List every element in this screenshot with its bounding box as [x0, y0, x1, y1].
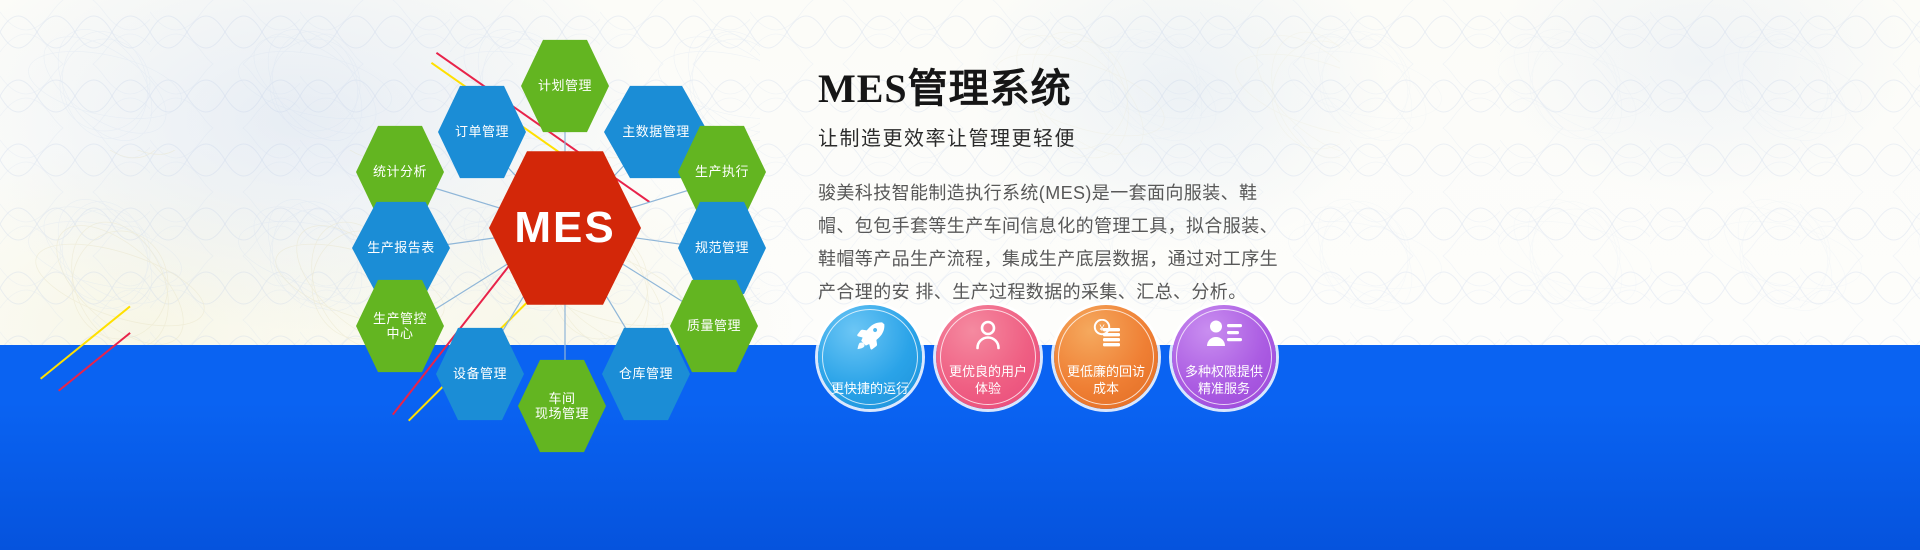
coins-icon: ¥ [1054, 319, 1158, 351]
feature-badges: 更快捷的运行 更优良的用户 体验 ¥ [818, 305, 1276, 409]
badge-label: 更优良的用户 体验 [949, 363, 1027, 397]
center-label: MES [514, 202, 615, 254]
badge-permission[interactable]: 多种权限提供 精准服务 [1172, 305, 1276, 409]
node-label: 订单管理 [455, 124, 509, 139]
rocket-icon [818, 319, 922, 353]
node-label: 规范管理 [695, 240, 749, 255]
page-subtitle: 让制造更效率让管理更轻便 [818, 122, 1868, 151]
node-label: 仓库管理 [619, 366, 673, 381]
node-label: 生产报告表 [367, 240, 435, 255]
badge-label: 更快捷的运行 [831, 380, 909, 397]
user-list-icon [1172, 319, 1276, 349]
badge-fast[interactable]: 更快捷的运行 [818, 305, 922, 409]
page-title: MES管理系统 [818, 56, 1868, 114]
node-label: 计划管理 [538, 78, 592, 93]
badge-label: 多种权限提供 精准服务 [1185, 363, 1263, 397]
hero-paragraph: 骏美科技智能制造执行系统(MES)是一套面向服装、鞋帽、包包手套等生产车间信息化… [818, 177, 1278, 309]
badge-label: 更低廉的回访 成本 [1067, 363, 1145, 397]
node-label: 生产执行 [695, 164, 749, 179]
node-label: 统计分析 [373, 164, 427, 179]
user-icon [936, 319, 1040, 351]
hero-text-column: MES管理系统 让制造更效率让管理更轻便 骏美科技智能制造执行系统(MES)是一… [818, 56, 1868, 309]
mes-hexagon-diagram: 计划管理 订单管理 主数据管理 统计分析 生产执行 生产报告表 规范管理 生产管… [330, 20, 800, 440]
node-label: 主数据管理 [622, 124, 690, 139]
node-label: 生产管控 中心 [373, 311, 427, 342]
node-label: 质量管理 [687, 318, 741, 333]
node-label: 设备管理 [453, 366, 507, 381]
node-label: 车间 现场管理 [535, 391, 589, 422]
badge-experience[interactable]: 更优良的用户 体验 [936, 305, 1040, 409]
banner-stage: 计划管理 订单管理 主数据管理 统计分析 生产执行 生产报告表 规范管理 生产管… [0, 0, 1920, 550]
badge-cost[interactable]: ¥ 更低廉的回访 成本 [1054, 305, 1158, 409]
